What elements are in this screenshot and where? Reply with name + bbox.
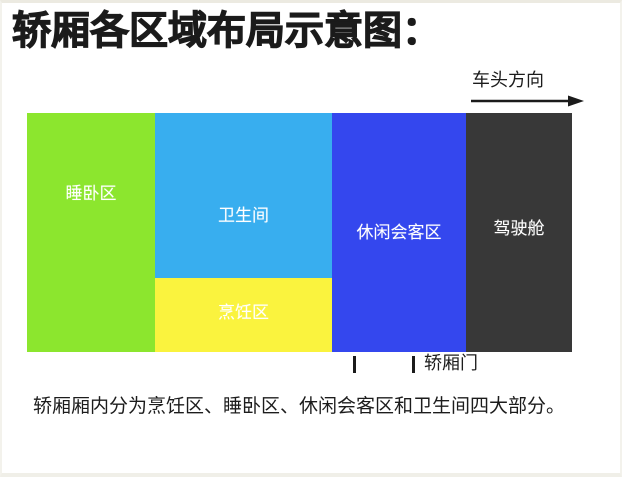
zone-sleep: 睡卧区 — [27, 113, 155, 352]
zone-lounge: 休闲会客区 — [332, 113, 466, 352]
direction-annotation: 车头方向 — [470, 70, 590, 112]
door-tick-left — [353, 356, 356, 373]
zone-kitchen: 烹饪区 — [155, 278, 332, 352]
caption-text: 轿厢厢内分为烹饪区、睡卧区、休闲会客区和卫生间四大部分。 — [33, 392, 593, 421]
zone-bathroom: 卫生间 — [155, 113, 332, 278]
zone-sleep-label: 睡卧区 — [66, 183, 117, 205]
zone-lounge-label: 休闲会客区 — [357, 222, 442, 244]
zone-kitchen-label: 烹饪区 — [218, 302, 269, 324]
direction-label: 车头方向 — [472, 70, 544, 92]
zone-cockpit-label: 驾驶舱 — [494, 218, 545, 240]
zone-cockpit: 驾驶舱 — [466, 113, 572, 352]
page-title: 轿厢各区域布局示意图： — [12, 8, 441, 56]
zone-bathroom-label: 卫生间 — [218, 205, 269, 227]
door-label: 轿厢门 — [424, 353, 478, 375]
door-tick-right — [412, 356, 415, 373]
cabin-layout-diagram: 睡卧区 卫生间 烹饪区 休闲会客区 驾驶舱 — [27, 113, 572, 352]
diagram-page: 轿厢各区域布局示意图： 车头方向 睡卧区 卫生间 烹饪区 休闲会客区 驾驶舱 轿… — [0, 0, 622, 477]
arrow-right-icon — [470, 94, 585, 108]
